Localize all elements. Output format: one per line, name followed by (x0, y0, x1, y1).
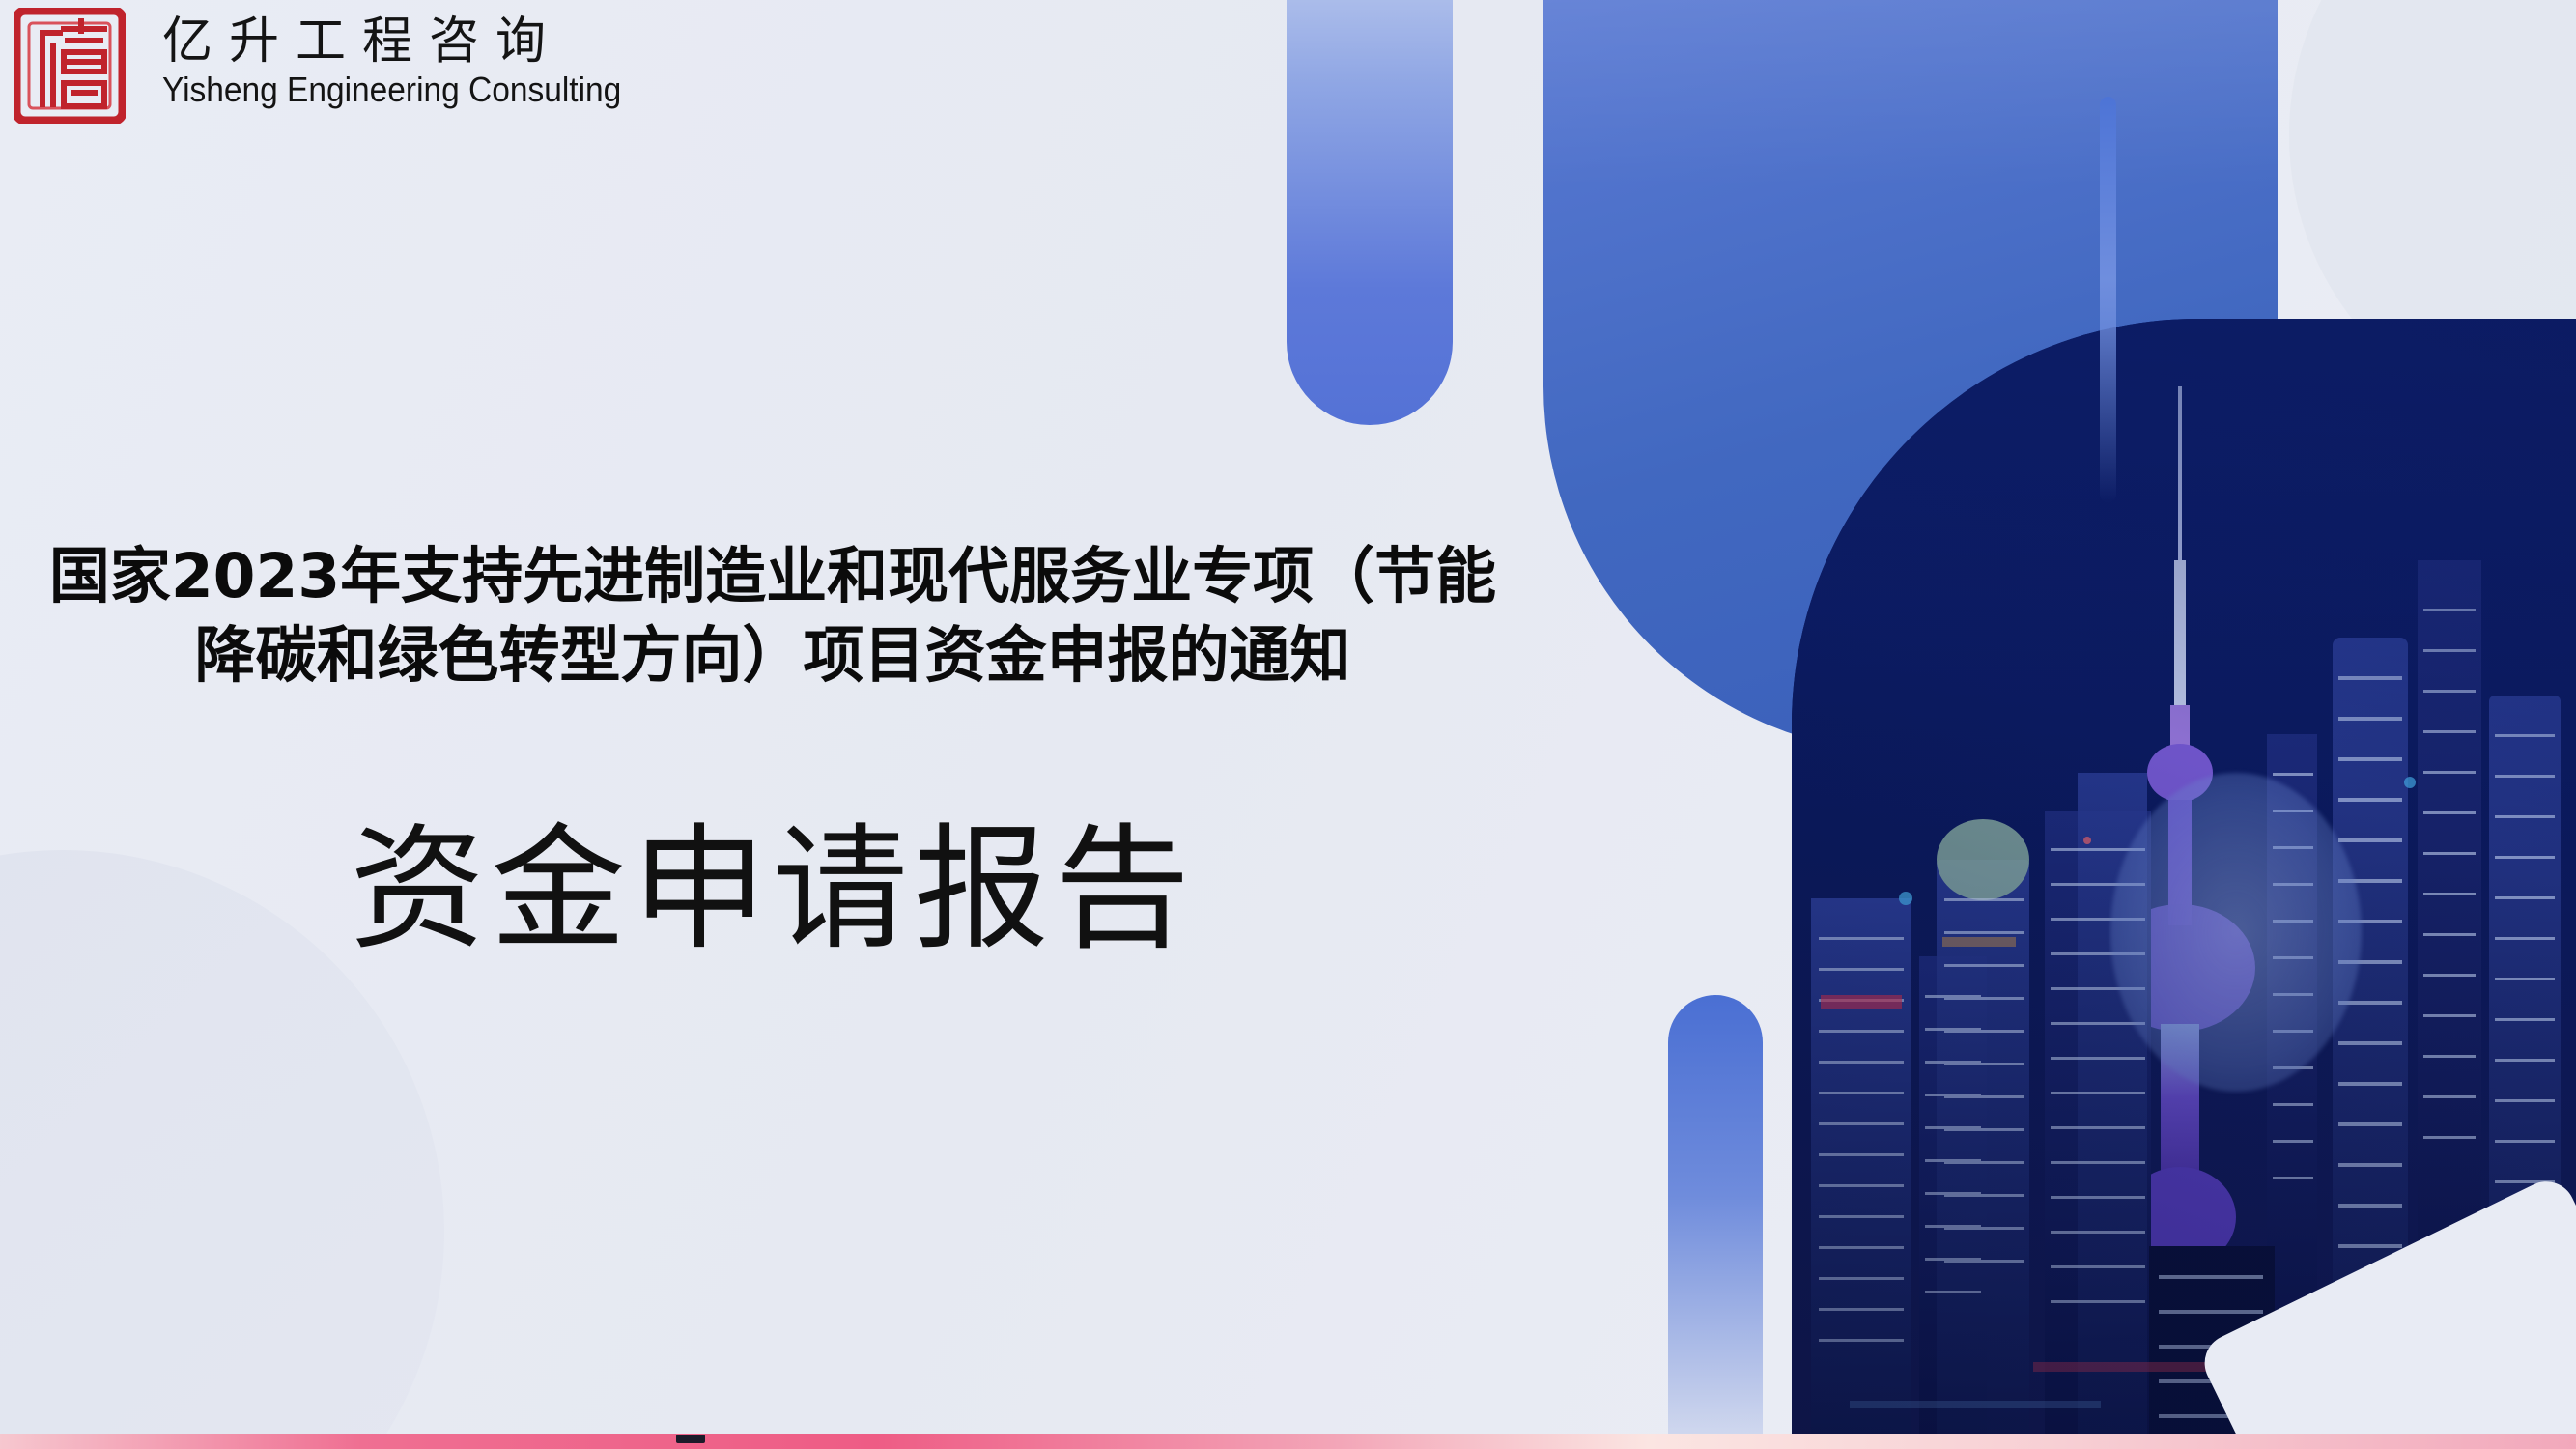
pink-bottom-band-decor (0, 1434, 2576, 1449)
brand-name-cn: 亿升工程咨询 (162, 15, 656, 68)
blue-pill-top-decor (1287, 0, 1453, 425)
slide-title: 国家2023年支持先进制造业和现代服务业专项（节能降碳和绿色转型方向）项目资金申… (0, 537, 1545, 696)
seal-stamp-svg (14, 8, 126, 124)
brand-header: 亿升工程咨询 Yisheng Engineering Consulting (14, 8, 656, 124)
title-block: 国家2023年支持先进制造业和现代服务业专项（节能降碳和绿色转型方向）项目资金申… (0, 537, 1545, 696)
company-seal-icon (14, 8, 126, 124)
slide-subtitle: 资金申请报告 (0, 810, 1545, 972)
brand-name-en: Yisheng Engineering Consulting (162, 70, 621, 109)
blue-pill-bottom-decor (1668, 995, 1763, 1449)
blue-thin-line-decor (2100, 97, 2116, 502)
shanghai-skyline-photo (1792, 319, 2576, 1449)
brand-text: 亿升工程咨询 Yisheng Engineering Consulting (162, 15, 656, 109)
presentation-slide: 亿升工程咨询 Yisheng Engineering Consulting 国家… (0, 0, 2576, 1449)
